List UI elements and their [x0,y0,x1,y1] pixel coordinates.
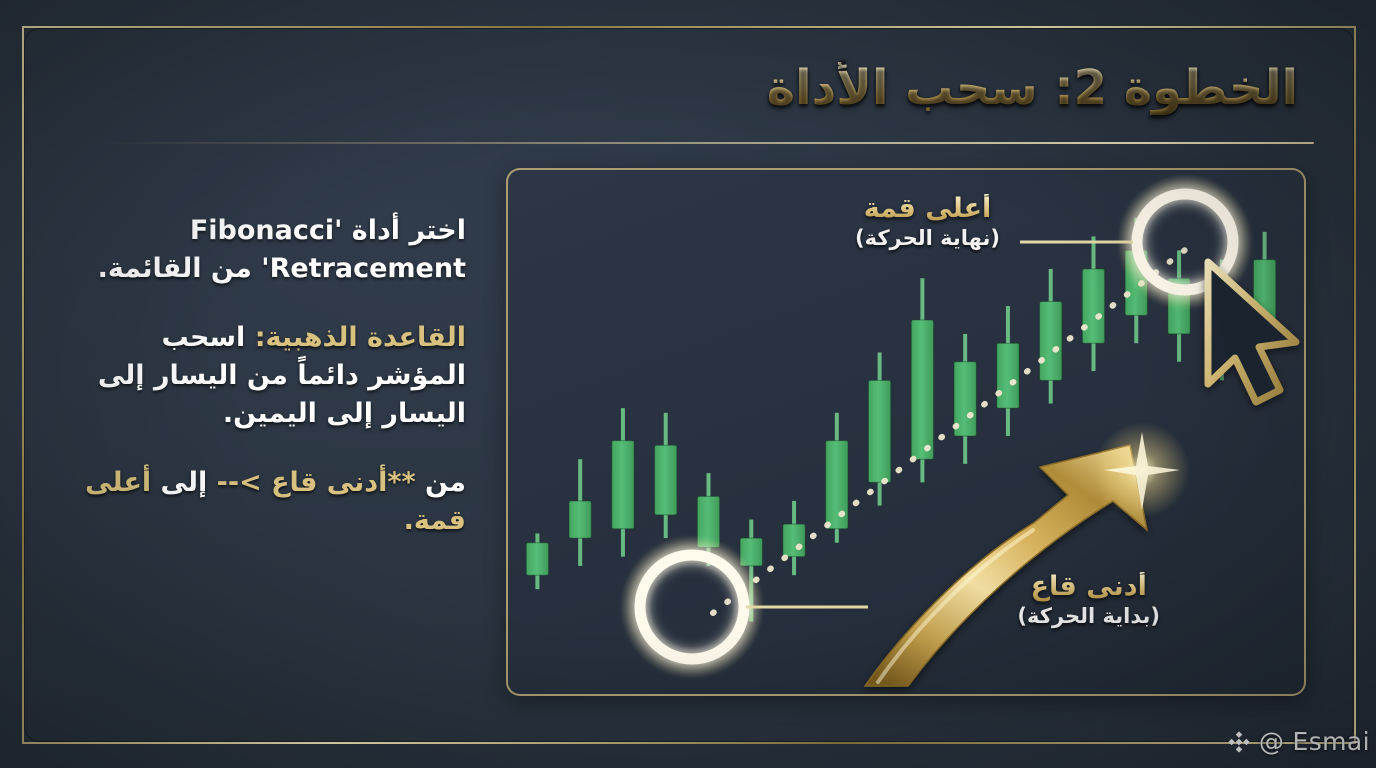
callout-swing-high-subtitle: (نهاية الحركة) [855,227,1000,251]
candle-body [612,441,634,529]
highlight-circle-low-icon[interactable] [620,535,764,679]
watermark-handle: @ Esmai [1259,727,1370,756]
callout-swing-low-subtitle: (بداية الحركة) [1017,605,1160,629]
golden-rule-label: القاعدة الذهبية: [255,322,466,353]
instruction-paragraph-3: من **أدنى قاع >-- إلى أعلى قمة. [66,464,466,541]
candle-body [997,343,1019,408]
mouse-cursor-icon[interactable] [1208,262,1296,402]
diamond-logo-icon [1226,729,1252,755]
candle-body [569,501,591,538]
drag-low-label: **أدنى قاع >-- [217,467,416,498]
callout-swing-low-title: أدنى قاع [1017,572,1160,602]
candle-body [868,380,890,482]
infographic-canvas: الخطوة 2: سحب الأداة اختر أداة 'Fibonacc… [0,0,1376,768]
watermark: @ Esmai [1226,727,1370,756]
callout-swing-low: أدنى قاع (بداية الحركة) [1017,572,1160,629]
instruction-paragraph-1: اختر أداة 'Fibonacci Retracement' من الق… [66,212,466,289]
candle-body [1082,269,1104,343]
candle-body [783,524,805,556]
drag-from-label: من [416,467,466,498]
page-title-wrap: الخطوة 2: سحب الأداة [538,62,1298,115]
candle-body [655,445,677,515]
instruction-paragraph-2: القاعدة الذهبية: اسحب المؤشر دائماً من ا… [66,319,466,434]
drag-to-label: إلى [151,467,217,498]
candle-body [1040,301,1062,380]
candle-body [911,320,933,459]
sparkle-icon [1094,422,1190,518]
candle-body [526,543,548,575]
callout-swing-high: أعلى قمة (نهاية الحركة) [855,194,1000,251]
callout-swing-high-title: أعلى قمة [855,194,1000,224]
instructions-column: اختر أداة 'Fibonacci Retracement' من الق… [66,212,466,540]
page-title: الخطوة 2: سحب الأداة [538,62,1298,115]
title-divider [99,142,1314,144]
candle-body [826,441,848,529]
